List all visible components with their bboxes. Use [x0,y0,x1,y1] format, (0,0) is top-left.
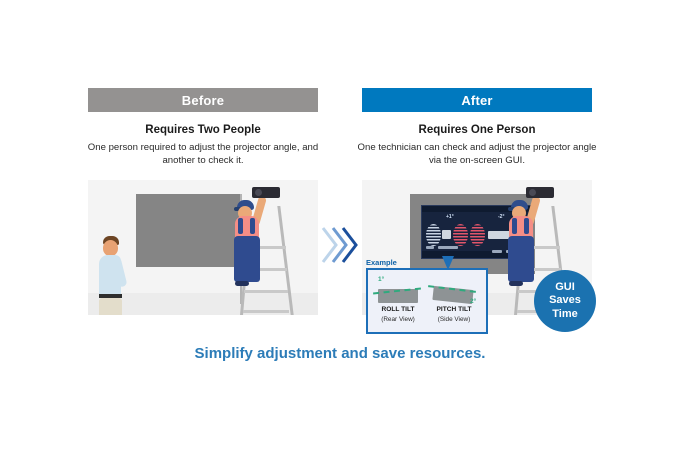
infographic-canvas: Before Requires Two People One person re… [0,0,680,450]
roll-tilt-degree: 1° [378,276,384,283]
before-badge: Before [88,88,318,112]
technician-person [231,188,281,306]
gui-chip [426,246,434,249]
technician-overalls [508,236,534,282]
roll-tilt-title: ROLL TILT [372,306,424,313]
technician-strap [524,218,529,234]
tagline: Simplify adjustment and save resources. [0,345,680,362]
pitch-tilt-title: PITCH TILT [428,306,480,313]
technician-shoe [235,281,249,286]
gui-chip [492,250,502,253]
badge-line-3: Time [552,308,577,322]
technician-strap [512,218,517,234]
projector-lens [255,189,262,196]
after-badge: After [362,88,592,112]
double-chevron-right-icon [320,222,360,268]
roll-tilt-subtitle: (Rear View) [372,316,424,323]
gui-gauge [470,224,485,246]
roll-tilt-diagram: 1° [372,276,424,310]
pitch-tilt-subtitle: (Side View) [428,316,480,323]
ladder-step [243,310,289,313]
after-title: Requires One Person [362,124,592,136]
pitch-tilt-diagram: 2° [428,276,480,310]
after-description: One technician can check and adjust the … [357,141,597,167]
badge-line-1: GUI [555,281,575,295]
gui-gauge [453,224,468,246]
before-badge-label: Before [182,93,224,108]
pitch-tilt-degree: 2° [470,298,476,305]
after-badge-label: After [461,93,492,108]
technician-overalls [234,236,260,282]
gui-roll-reading: +1° [446,214,454,220]
before-description: One person required to adjust the projec… [83,141,323,167]
projector-icon [252,187,280,198]
observer-legs [99,298,122,315]
technician-shoe [509,281,523,286]
technician-strap [238,218,243,234]
gui-saves-time-badge: GUI Saves Time [534,270,596,332]
example-callout-box: 1° ROLL TILT (Rear View) 2° PITCH TILT (… [366,268,488,334]
technician-strap [250,218,255,234]
before-illustration [88,180,318,315]
example-label: Example [366,258,397,267]
badge-line-2: Saves [549,294,581,308]
gui-chip [438,246,458,249]
gui-pitch-reading: -2° [498,214,504,220]
before-title: Requires Two People [88,124,318,136]
projector-lens [529,189,536,196]
gui-unit-graphic [442,230,451,239]
observer-head [103,240,118,256]
observer-person [98,236,138,315]
gui-gauge [426,224,441,246]
projector-icon [526,187,554,198]
projection-screen [136,194,241,267]
